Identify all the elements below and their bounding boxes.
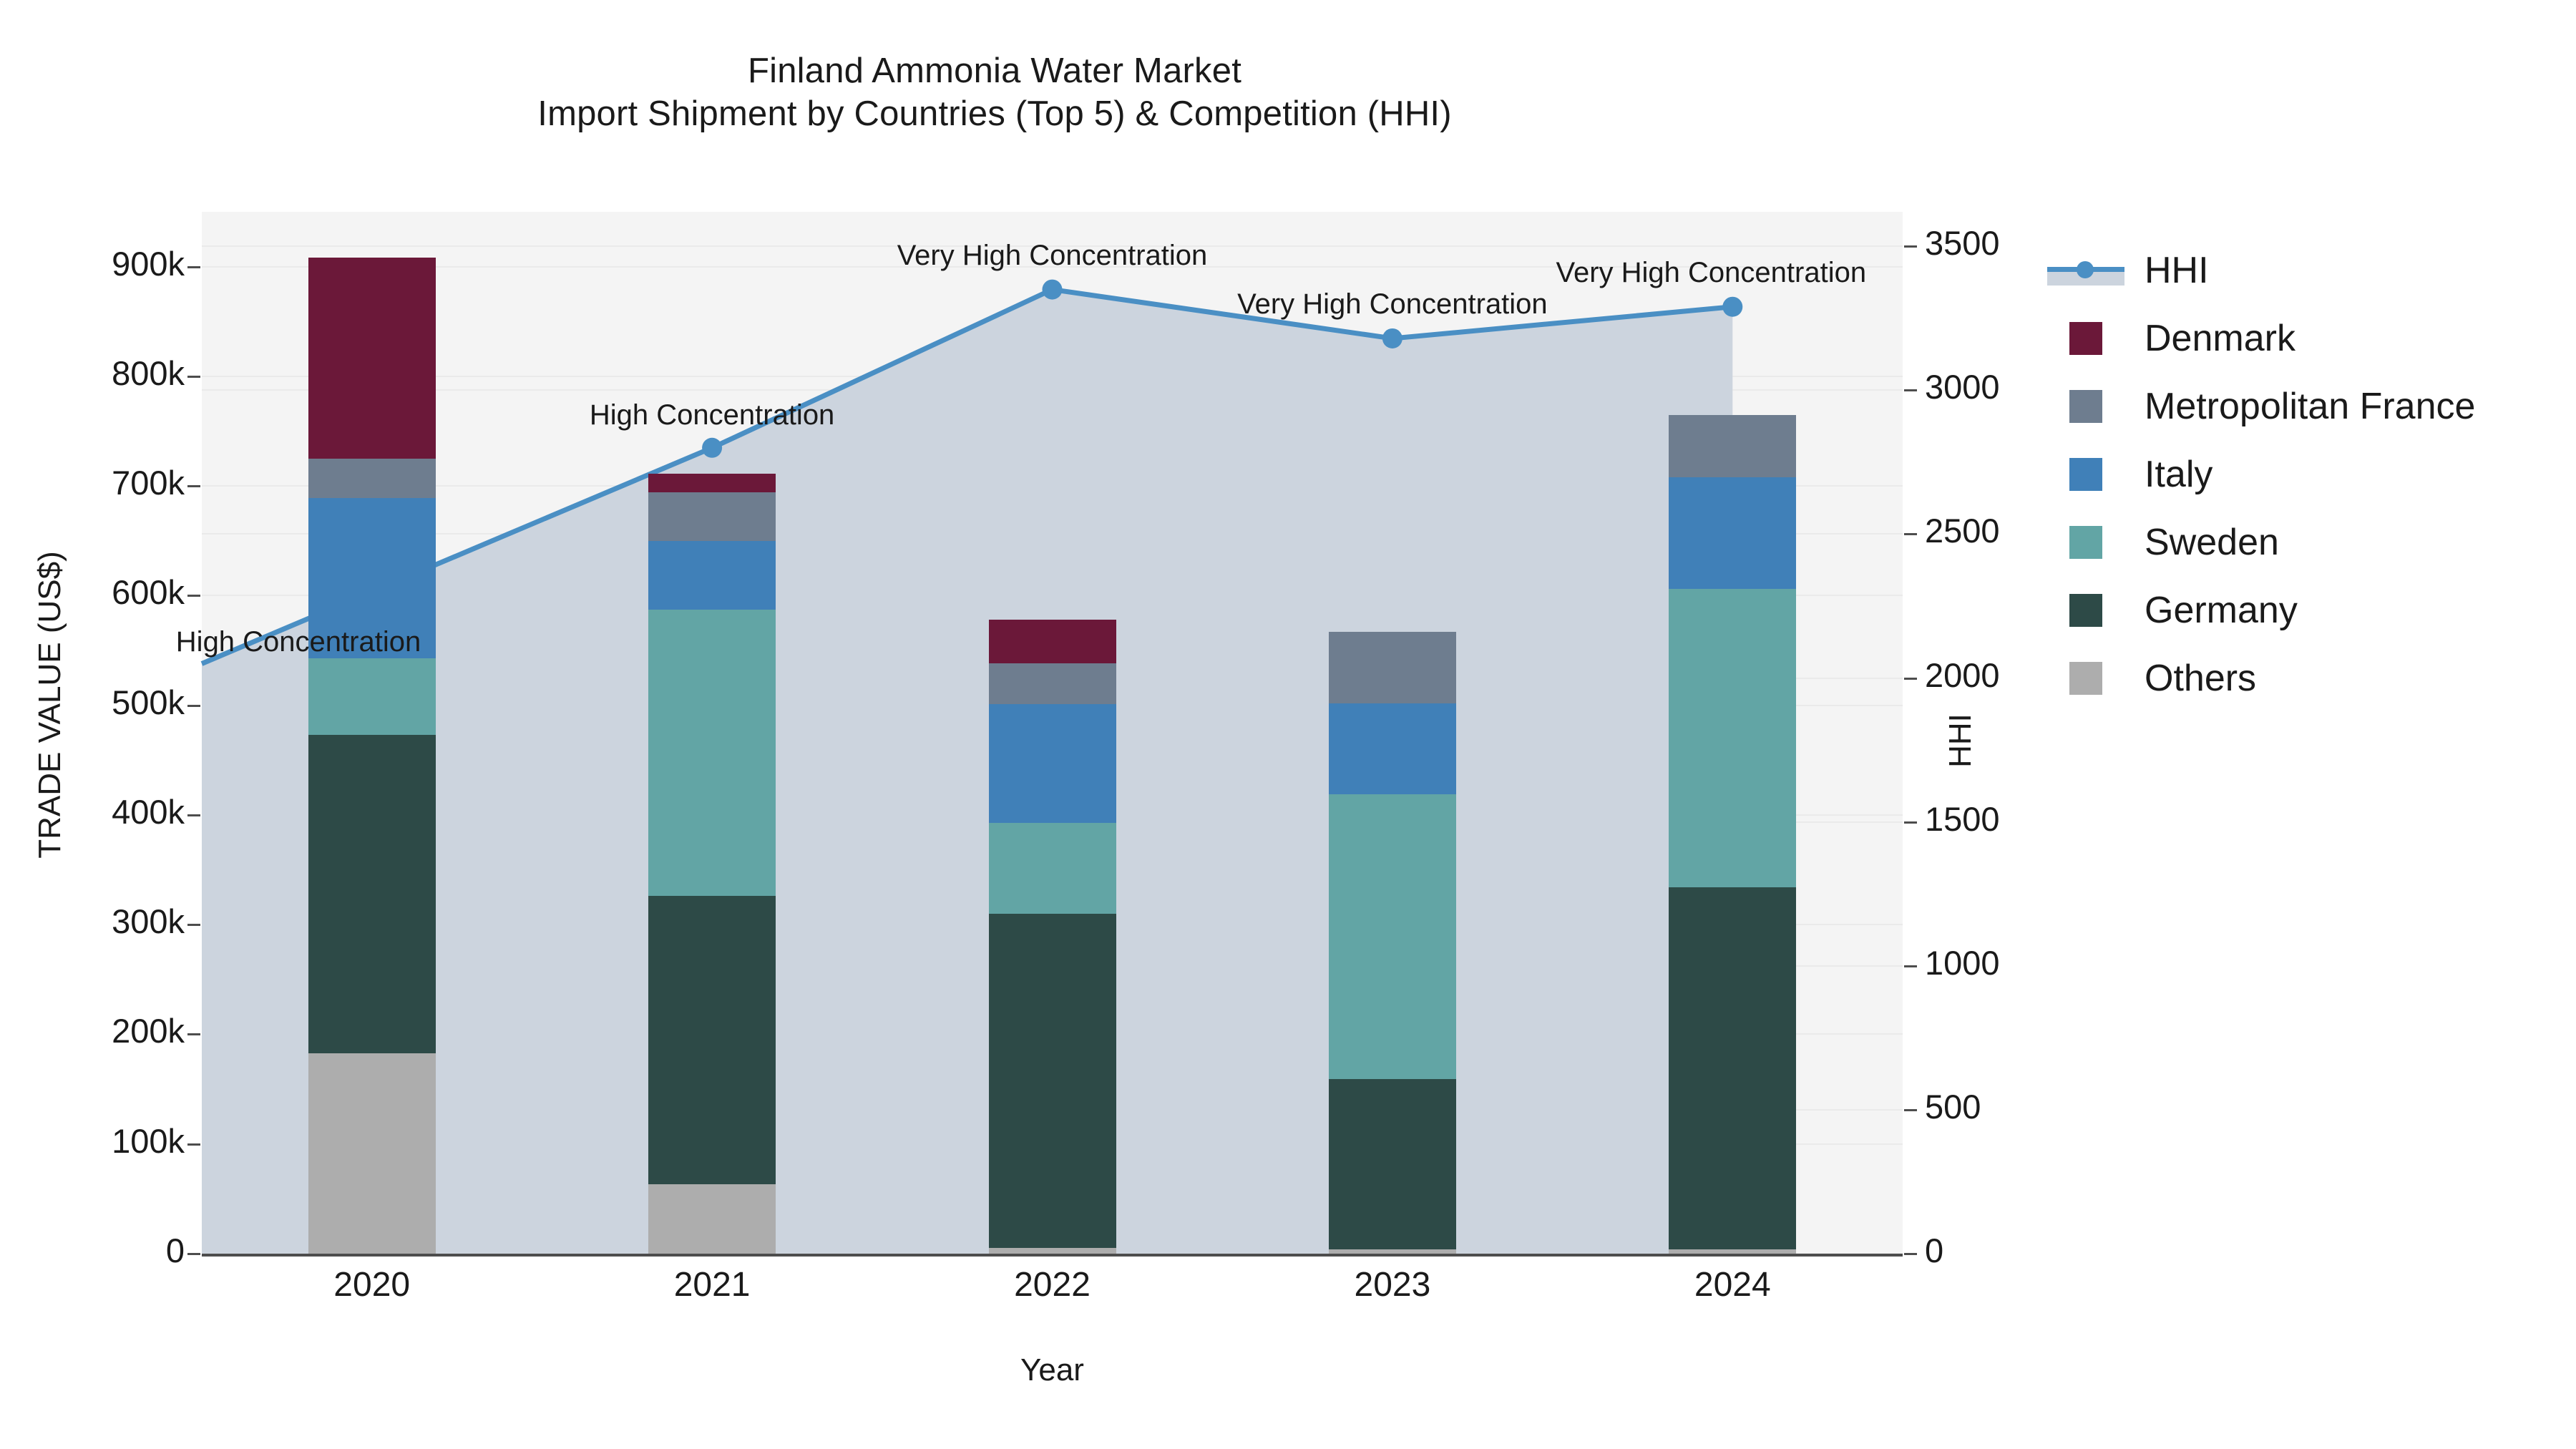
bar-segment-others[interactable]: [308, 1053, 436, 1254]
y-tick-label-secondary: 1000: [1925, 946, 2140, 980]
y-tick-label-secondary: 1500: [1925, 802, 2140, 836]
y-tick-label-primary: 0: [0, 1234, 185, 1267]
bar-segment-sweden[interactable]: [1669, 589, 1796, 887]
x-axis-line: [202, 1254, 1903, 1257]
bar-stack[interactable]: [308, 212, 436, 1254]
y-tick-mark-primary: [187, 1253, 200, 1255]
y-tick-text: 700k: [112, 464, 185, 502]
y-tick-mark-secondary: [1904, 965, 1917, 967]
hhi-annotation: Very High Concentration: [1237, 288, 1548, 321]
legend-label: Italy: [2145, 453, 2212, 496]
bar-segment-others[interactable]: [989, 1248, 1116, 1254]
x-tick-text: 2024: [1694, 1266, 1771, 1304]
legend-swatch-wrap: [2043, 662, 2129, 695]
x-tick-label: 2023: [1249, 1265, 1536, 1304]
bar-segment-denmark[interactable]: [989, 620, 1116, 663]
bar-segment-germany[interactable]: [989, 914, 1116, 1248]
x-tick-text: 2023: [1355, 1266, 1431, 1304]
chart-title: Finland Ammonia Water Market Import Ship…: [0, 50, 1989, 136]
bar-segment-sweden[interactable]: [308, 658, 436, 735]
bar-stack[interactable]: [1329, 212, 1456, 1254]
y-tick-mark-secondary: [1904, 245, 1917, 248]
y-tick-label-primary: 300k: [0, 904, 185, 938]
legend-swatch-icon: [2069, 322, 2102, 355]
chart-canvas: Finland Ammonia Water Market Import Ship…: [0, 0, 2576, 1449]
y-tick-mark-secondary: [1904, 821, 1917, 824]
bar-segment-denmark[interactable]: [648, 474, 776, 492]
legend-label: Sweden: [2145, 521, 2279, 564]
y-tick-mark-primary: [187, 705, 200, 707]
y-tick-text: 600k: [112, 573, 185, 611]
legend-label: Others: [2145, 657, 2256, 700]
y-tick-label-primary: 100k: [0, 1124, 185, 1158]
bar-segment-metropolitan-france[interactable]: [1669, 415, 1796, 477]
y-axis-label-secondary: HHI: [1943, 562, 1979, 919]
x-axis-label: Year: [202, 1352, 1903, 1388]
legend-label: Germany: [2145, 589, 2298, 632]
y-tick-mark-primary: [187, 814, 200, 816]
y-tick-text: 2000: [1925, 656, 2000, 694]
y-tick-text: 500k: [112, 683, 185, 721]
legend-swatch-wrap: [2043, 526, 2129, 559]
bar-segment-others[interactable]: [648, 1184, 776, 1254]
y-tick-mark-primary: [187, 924, 200, 926]
bar-segment-denmark[interactable]: [308, 258, 436, 458]
legend-line-icon: [2043, 254, 2129, 287]
bar-segment-italy[interactable]: [1329, 703, 1456, 794]
x-tick-label: 2020: [229, 1265, 515, 1304]
bar-segment-metropolitan-france[interactable]: [1329, 632, 1456, 703]
legend-swatch-icon: [2069, 594, 2102, 627]
hhi-annotation: High Concentration: [590, 399, 834, 431]
legend-item-denmark[interactable]: Denmark: [2043, 304, 2475, 372]
y-tick-text: 900k: [112, 245, 185, 283]
y-tick-mark-secondary: [1904, 678, 1917, 680]
legend-swatch-icon: [2069, 526, 2102, 559]
y-tick-mark-primary: [187, 266, 200, 268]
x-tick-text: 2020: [333, 1266, 410, 1304]
legend-swatch-wrap: [2043, 594, 2129, 627]
y-tick-label-primary: 800k: [0, 356, 185, 390]
y-tick-label-primary: 600k: [0, 575, 185, 609]
legend-item-metropolitan-france[interactable]: Metropolitan France: [2043, 372, 2475, 440]
bar-stack[interactable]: [989, 212, 1116, 1254]
legend-line-marker-icon: [2077, 261, 2094, 278]
bar-segment-germany[interactable]: [1329, 1079, 1456, 1249]
y-tick-mark-secondary: [1904, 1253, 1917, 1255]
hhi-annotation: Very High Concentration: [1556, 257, 1867, 289]
y-tick-text: 2500: [1925, 512, 2000, 550]
y-tick-mark-primary: [187, 1033, 200, 1035]
legend-swatch-wrap: [2043, 322, 2129, 355]
plot-area: [202, 212, 1903, 1254]
y-tick-label-primary: 400k: [0, 795, 185, 829]
y-tick-mark-secondary: [1904, 533, 1917, 535]
x-tick-text: 2021: [674, 1266, 751, 1304]
legend-item-others[interactable]: Others: [2043, 644, 2475, 712]
legend-swatch-wrap: [2043, 458, 2129, 491]
y-tick-mark-primary: [187, 595, 200, 597]
x-tick-label: 2022: [909, 1265, 1196, 1304]
bar-segment-germany[interactable]: [308, 735, 436, 1053]
bar-segment-sweden[interactable]: [648, 610, 776, 896]
legend-label: Metropolitan France: [2145, 385, 2475, 428]
y-tick-label-secondary: 500: [1925, 1090, 2140, 1123]
y-tick-label-primary: 700k: [0, 466, 185, 499]
y-tick-label-primary: 900k: [0, 247, 185, 280]
y-tick-text: 200k: [112, 1012, 185, 1050]
chart-title-line-2: Import Shipment by Countries (Top 5) & C…: [0, 93, 1989, 136]
y-tick-label-primary: 200k: [0, 1014, 185, 1048]
legend-item-germany[interactable]: Germany: [2043, 576, 2475, 644]
bar-segment-metropolitan-france[interactable]: [308, 459, 436, 498]
y-tick-text: 0: [1925, 1231, 1943, 1269]
bar-segment-sweden[interactable]: [1329, 794, 1456, 1079]
chart-title-line-1: Finland Ammonia Water Market: [0, 50, 1989, 93]
bar-segment-metropolitan-france[interactable]: [648, 492, 776, 540]
bar-segment-italy[interactable]: [989, 704, 1116, 823]
y-tick-mark-secondary: [1904, 389, 1917, 391]
y-tick-label-secondary: 0: [1925, 1234, 2140, 1267]
y-tick-text: 3000: [1925, 368, 2000, 406]
legend-swatch-icon: [2069, 390, 2102, 423]
legend-label: HHI: [2145, 249, 2209, 292]
bar-segment-italy[interactable]: [1669, 477, 1796, 589]
y-tick-text: 1500: [1925, 800, 2000, 838]
y-tick-label-primary: 500k: [0, 686, 185, 719]
legend: HHIDenmarkMetropolitan FranceItalySweden…: [2043, 236, 2475, 712]
x-tick-text: 2022: [1014, 1266, 1091, 1304]
hhi-annotation: Very High Concentration: [897, 240, 1208, 272]
y-tick-text: 3500: [1925, 224, 2000, 262]
legend-item-italy[interactable]: Italy: [2043, 440, 2475, 508]
legend-item-sweden[interactable]: Sweden: [2043, 508, 2475, 576]
y-tick-text: 500: [1925, 1088, 1981, 1126]
y-tick-text: 1000: [1925, 944, 2000, 982]
bar-segment-italy[interactable]: [648, 541, 776, 610]
legend-label: Denmark: [2145, 317, 2296, 360]
hhi-annotation: High Concentration: [176, 626, 421, 658]
x-tick-label: 2024: [1589, 1265, 1875, 1304]
bar-segment-metropolitan-france[interactable]: [989, 663, 1116, 704]
bar-segment-sweden[interactable]: [989, 823, 1116, 914]
bar-stack[interactable]: [1669, 212, 1796, 1254]
bar-stack[interactable]: [648, 212, 776, 1254]
y-tick-text: 800k: [112, 354, 185, 392]
y-tick-text: 0: [166, 1231, 185, 1269]
legend-swatch-icon: [2069, 458, 2102, 491]
y-tick-mark-primary: [187, 1143, 200, 1146]
legend-swatch-icon: [2069, 662, 2102, 695]
bar-segment-germany[interactable]: [1669, 887, 1796, 1249]
legend-swatch-wrap: [2043, 390, 2129, 423]
y-tick-mark-secondary: [1904, 1109, 1917, 1111]
y-tick-text: 300k: [112, 902, 185, 940]
legend-item-hhi[interactable]: HHI: [2043, 236, 2475, 304]
y-tick-mark-primary: [187, 376, 200, 378]
y-tick-text: 400k: [112, 793, 185, 831]
bar-segment-germany[interactable]: [648, 896, 776, 1184]
y-tick-text: 100k: [112, 1122, 185, 1160]
x-tick-label: 2021: [569, 1265, 855, 1304]
y-tick-mark-primary: [187, 485, 200, 487]
